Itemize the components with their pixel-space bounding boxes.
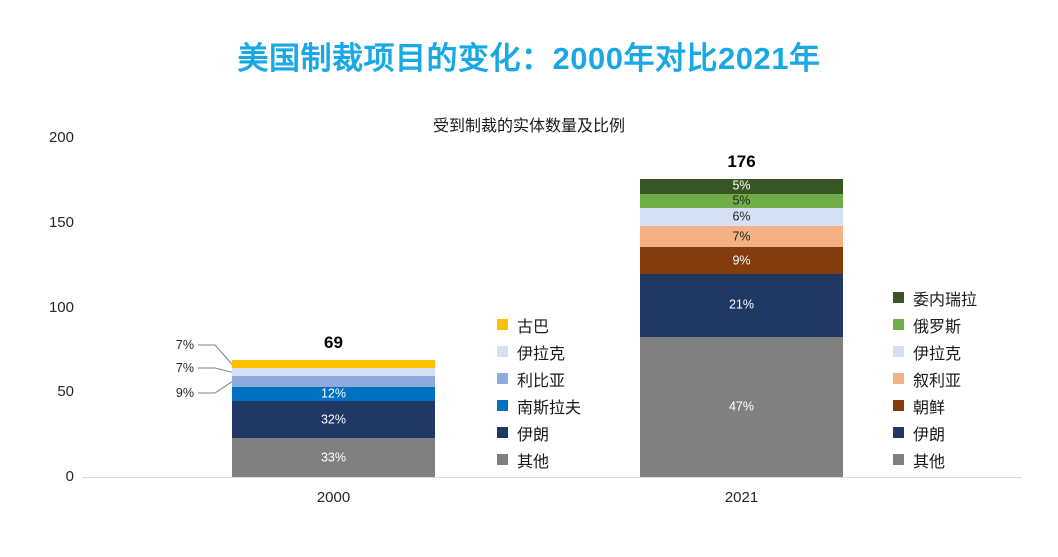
legend-item-伊拉克[interactable]: 伊拉克 xyxy=(893,338,977,365)
segment-percent-label: 12% xyxy=(232,387,435,400)
legend-swatch-icon xyxy=(893,292,904,303)
legend-item-南斯拉夫[interactable]: 南斯拉夫 xyxy=(497,392,581,419)
legend-item-叙利亚[interactable]: 叙利亚 xyxy=(893,365,977,392)
bar-segment-2021-伊朗[interactable]: 21% xyxy=(640,274,843,337)
callout-label-利比亚: 9% xyxy=(150,386,194,400)
y-axis-tick-0: 0 xyxy=(22,469,74,484)
legend-item-label: 委内瑞拉 xyxy=(913,286,977,310)
x-axis-tick-2000: 2000 xyxy=(232,489,435,506)
legend-item-委内瑞拉[interactable]: 委内瑞拉 xyxy=(893,284,977,311)
legend-item-label: 其他 xyxy=(517,448,549,472)
segment-percent-label: 5% xyxy=(640,180,843,193)
legend-swatch-icon xyxy=(893,427,904,438)
bar-2021[interactable]: 5%5%6%7%9%21%47%176 xyxy=(640,179,843,477)
callout-label-伊拉克: 7% xyxy=(150,361,194,375)
legend-item-label: 利比亚 xyxy=(517,367,565,391)
legend-swatch-icon xyxy=(497,319,508,330)
plot-area: 050100150200 20002021 12%32%33%695%5%6%7… xyxy=(0,0,1058,557)
legend-swatch-icon xyxy=(893,346,904,357)
bar-segment-2000-伊朗[interactable]: 32% xyxy=(232,401,435,438)
legend-item-label: 伊拉克 xyxy=(517,340,565,364)
bar-segment-2021-朝鲜[interactable]: 9% xyxy=(640,247,843,274)
legend-swatch-icon xyxy=(497,373,508,384)
x-axis-line xyxy=(82,477,1022,478)
legend-item-label: 俄罗斯 xyxy=(913,313,961,337)
legend-item-label: 伊朗 xyxy=(517,421,549,445)
x-axis-tick-2021: 2021 xyxy=(640,489,843,506)
legend-item-朝鲜[interactable]: 朝鲜 xyxy=(893,392,977,419)
legend-item-label: 叙利亚 xyxy=(913,367,961,391)
legend-item-label: 伊拉克 xyxy=(913,340,961,364)
legend-item-其他[interactable]: 其他 xyxy=(497,446,581,473)
legend-swatch-icon xyxy=(893,400,904,411)
bar-segment-2021-委内瑞拉[interactable]: 5% xyxy=(640,179,843,194)
segment-percent-label: 33% xyxy=(232,451,435,464)
legend-swatch-icon xyxy=(497,346,508,357)
legend-item-label: 伊朗 xyxy=(913,421,945,445)
legend-2000: 古巴伊拉克利比亚南斯拉夫伊朗其他 xyxy=(497,311,581,473)
bar-segment-2021-其他[interactable]: 47% xyxy=(640,337,843,477)
legend-swatch-icon xyxy=(497,400,508,411)
bar-total-2000: 69 xyxy=(232,333,435,353)
legend-item-利比亚[interactable]: 利比亚 xyxy=(497,365,581,392)
legend-swatch-icon xyxy=(497,427,508,438)
segment-percent-label: 47% xyxy=(640,400,843,413)
legend-item-伊朗[interactable]: 伊朗 xyxy=(497,419,581,446)
legend-item-label: 古巴 xyxy=(517,313,549,337)
segment-percent-label: 21% xyxy=(640,299,843,312)
y-axis-tick-100: 100 xyxy=(22,300,74,315)
legend-swatch-icon xyxy=(497,454,508,465)
legend-swatch-icon xyxy=(893,373,904,384)
y-axis-tick-200: 200 xyxy=(22,130,74,145)
legend-item-伊朗[interactable]: 伊朗 xyxy=(893,419,977,446)
bar-segment-2021-俄罗斯[interactable]: 5% xyxy=(640,194,843,209)
bar-segment-2021-叙利亚[interactable]: 7% xyxy=(640,226,843,247)
legend-swatch-icon xyxy=(893,454,904,465)
legend-item-俄罗斯[interactable]: 俄罗斯 xyxy=(893,311,977,338)
legend-item-古巴[interactable]: 古巴 xyxy=(497,311,581,338)
bar-segment-2000-古巴[interactable] xyxy=(232,360,435,368)
legend-swatch-icon xyxy=(893,319,904,330)
bar-segment-2021-伊拉克[interactable]: 6% xyxy=(640,208,843,226)
segment-percent-label: 7% xyxy=(640,230,843,243)
segment-percent-label: 32% xyxy=(232,413,435,426)
callout-leader-lines xyxy=(0,0,1058,557)
bar-total-2021: 176 xyxy=(640,152,843,172)
segment-percent-label: 5% xyxy=(640,195,843,208)
bar-2000[interactable]: 12%32%33%69 xyxy=(232,360,435,477)
segment-percent-label: 6% xyxy=(640,211,843,224)
legend-2021: 委内瑞拉俄罗斯伊拉克叙利亚朝鲜伊朗其他 xyxy=(893,284,977,473)
bar-segment-2000-伊拉克[interactable] xyxy=(232,368,435,376)
legend-item-伊拉克[interactable]: 伊拉克 xyxy=(497,338,581,365)
y-axis-tick-150: 150 xyxy=(22,215,74,230)
bar-segment-2000-其他[interactable]: 33% xyxy=(232,438,435,477)
bar-segment-2000-南斯拉夫[interactable]: 12% xyxy=(232,387,435,401)
legend-item-其他[interactable]: 其他 xyxy=(893,446,977,473)
bar-segment-2000-利比亚[interactable] xyxy=(232,376,435,387)
legend-item-label: 其他 xyxy=(913,448,945,472)
y-axis-tick-50: 50 xyxy=(22,384,74,399)
legend-item-label: 南斯拉夫 xyxy=(517,394,581,418)
segment-percent-label: 9% xyxy=(640,254,843,267)
legend-item-label: 朝鲜 xyxy=(913,394,945,418)
callout-label-古巴: 7% xyxy=(150,338,194,352)
